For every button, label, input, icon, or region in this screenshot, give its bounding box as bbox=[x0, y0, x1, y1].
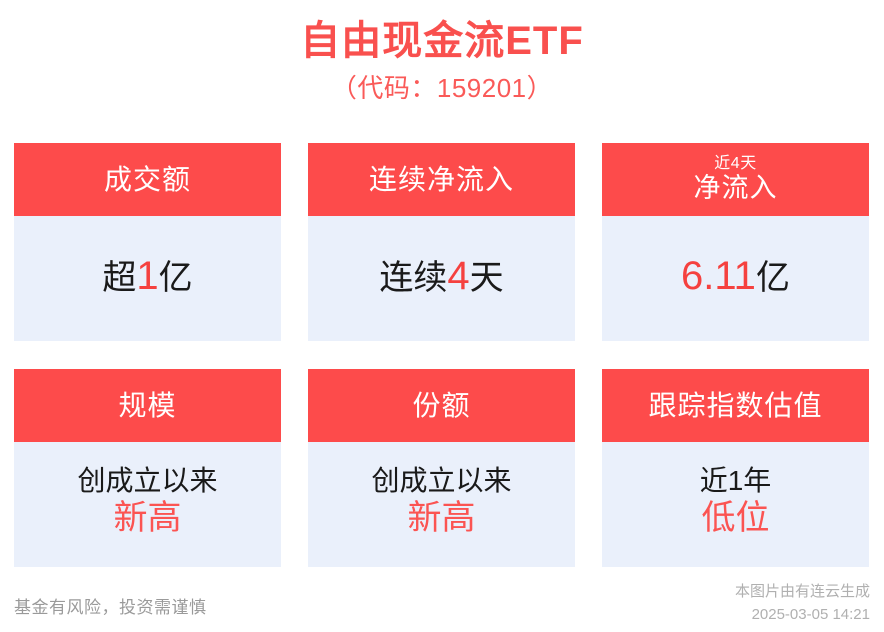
value-suffix: 亿 bbox=[756, 259, 790, 297]
card-header-title: 规模 bbox=[118, 389, 176, 423]
page-header: 自由现金流ETF （代码：159201） bbox=[0, 0, 884, 108]
metric-card-row-1: 成交额 超1亿 连续净流入 连续4天 近4天 净流入 6.11亿 bbox=[14, 143, 870, 341]
value-prefix: 连续 bbox=[379, 259, 447, 297]
card-value-caption: 创成立以来 bbox=[77, 464, 217, 498]
card-value-caption: 创成立以来 bbox=[371, 464, 511, 498]
metric-card-net-inflow: 近4天 净流入 6.11亿 bbox=[602, 143, 869, 341]
card-header-title: 成交额 bbox=[104, 163, 191, 197]
card-header-turnover: 成交额 bbox=[14, 143, 281, 216]
card-header-net-inflow: 近4天 净流入 bbox=[602, 143, 869, 216]
value-accent: 1 bbox=[136, 254, 158, 298]
page-footer: 基金有风险，投资需谨慎 本图片由有连云生成 2025-03-05 14:21 bbox=[0, 570, 884, 632]
metric-card-shares: 份额 创成立以来 新高 bbox=[308, 369, 575, 567]
generation-info: 本图片由有连云生成 2025-03-05 14:21 bbox=[735, 581, 870, 632]
value-prefix: 超 bbox=[102, 259, 136, 297]
card-header-title: 跟踪指数估值 bbox=[648, 389, 822, 423]
card-body-scale: 创成立以来 新高 bbox=[14, 442, 281, 567]
card-body-index-valuation: 近1年 低位 bbox=[602, 442, 869, 567]
page-title: 自由现金流ETF bbox=[0, 18, 884, 65]
generation-source: 本图片由有连云生成 bbox=[735, 581, 870, 604]
fund-code-subtitle: （代码：159201） bbox=[0, 69, 884, 108]
value-suffix: 亿 bbox=[159, 259, 193, 297]
value-suffix: 天 bbox=[470, 259, 504, 297]
metric-card-index-valuation: 跟踪指数估值 近1年 低位 bbox=[602, 369, 869, 567]
metric-card-consecutive-inflow: 连续净流入 连续4天 bbox=[308, 143, 575, 341]
card-body-net-inflow: 6.11亿 bbox=[602, 216, 869, 341]
card-header-scale: 规模 bbox=[14, 369, 281, 442]
metric-card-turnover: 成交额 超1亿 bbox=[14, 143, 281, 341]
card-body-turnover: 超1亿 bbox=[14, 216, 281, 341]
metric-card-grid: 成交额 超1亿 连续净流入 连续4天 近4天 净流入 6.11亿 bbox=[14, 143, 870, 567]
card-header-title: 净流入 bbox=[694, 172, 778, 204]
card-value-line: 6.11亿 bbox=[681, 251, 790, 301]
card-body-consecutive-inflow: 连续4天 bbox=[308, 216, 575, 341]
value-accent: 6.11 bbox=[681, 254, 756, 298]
card-value-highlight: 新高 bbox=[114, 498, 182, 539]
generation-timestamp: 2025-03-05 14:21 bbox=[735, 604, 870, 627]
card-value-highlight: 低位 bbox=[702, 498, 770, 539]
risk-disclaimer: 基金有风险，投资需谨慎 bbox=[14, 593, 207, 632]
card-header-index-valuation: 跟踪指数估值 bbox=[602, 369, 869, 442]
metric-card-row-2: 规模 创成立以来 新高 份额 创成立以来 新高 跟踪指数估值 近1年 低位 bbox=[14, 369, 870, 567]
card-value-highlight: 新高 bbox=[408, 498, 476, 539]
card-header-title: 份额 bbox=[412, 389, 470, 423]
card-header-subtitle: 近4天 bbox=[714, 155, 756, 173]
card-value-caption: 近1年 bbox=[700, 464, 772, 498]
card-header-shares: 份额 bbox=[308, 369, 575, 442]
card-body-shares: 创成立以来 新高 bbox=[308, 442, 575, 567]
card-header-title: 连续净流入 bbox=[369, 163, 514, 197]
card-value-line: 超1亿 bbox=[102, 251, 192, 301]
metric-card-scale: 规模 创成立以来 新高 bbox=[14, 369, 281, 567]
value-accent: 4 bbox=[447, 254, 469, 298]
card-value-line: 连续4天 bbox=[379, 251, 503, 301]
card-header-consecutive-inflow: 连续净流入 bbox=[308, 143, 575, 216]
